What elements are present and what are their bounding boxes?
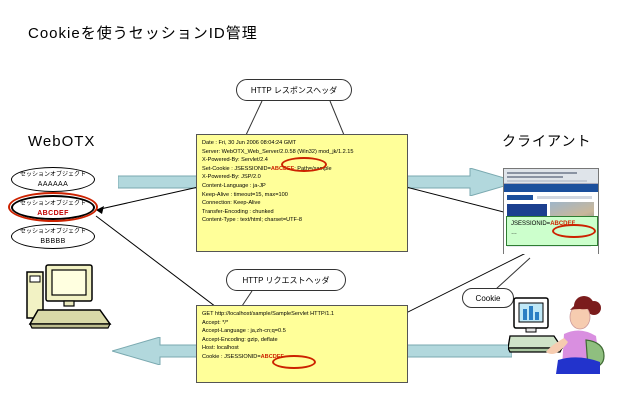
response-header-line: Transfer-Encoding : chunked — [202, 208, 402, 217]
client-label: クライアント — [502, 131, 591, 151]
response-header-line: Date : Fri, 30 Jun 2006 08:04:24 GMT — [202, 139, 402, 148]
client-cookie-highlight-ring — [552, 224, 596, 238]
response-header-line: Content-Language : ja-JP — [202, 182, 402, 191]
callout-cookie: Cookie — [462, 288, 514, 308]
request-header-line: Host: localhost — [202, 344, 402, 353]
server-label: WebOTX — [28, 133, 95, 150]
callout-response-header: HTTP レスポンスヘッダ — [236, 79, 352, 101]
session-object-3: セッションオブジェクト BBBBB — [11, 224, 95, 249]
request-header-line: GET http://localhost/sample/SampleServle… — [202, 310, 402, 319]
http-request-header-box: GET http://localhost/sample/SampleServle… — [196, 305, 408, 383]
response-header-line: Content-Type : text/html; charset=UTF-8 — [202, 216, 402, 225]
cookie-highlight-ring — [272, 355, 316, 369]
response-header-line: Server: WebOTX_Web_Server/2.0.58 (Win32)… — [202, 148, 402, 157]
request-header-line: Accept-Encoding: gzip, deflate — [202, 336, 402, 345]
callout-request-header: HTTP リクエストヘッダ — [226, 269, 346, 291]
response-header-line: Keep-Alive : timeout=15, max=100 — [202, 191, 402, 200]
http-response-header-box: Date : Fri, 30 Jun 2006 08:04:24 GMT Ser… — [196, 134, 408, 252]
person-at-computer-icon — [508, 290, 612, 382]
session-object-highlight-ring — [8, 192, 98, 222]
cookie-store-name: JSESSIONID= — [511, 221, 550, 227]
browser-navbar — [504, 184, 598, 192]
session-object-caption: セッションオブジェクト — [12, 228, 94, 237]
cookie-prefix: Cookie : JSESSIONID= — [202, 354, 261, 360]
diagram-canvas: Cookieを使うセッションID管理 WebOTX — [0, 0, 640, 420]
session-object-value: AAAAAA — [12, 180, 94, 189]
request-header-line: Accept-Language : ja,zh-cn;q=0.5 — [202, 327, 402, 336]
session-object-1: セッションオブジェクト AAAAAA — [11, 167, 95, 192]
session-object-caption: セッションオブジェクト — [12, 171, 94, 180]
set-cookie-highlight-ring — [281, 157, 327, 172]
response-header-line: X-Powered-By: JSP/2.0 — [202, 173, 402, 182]
response-header-line: Connection: Keep-Alive — [202, 199, 402, 208]
desktop-computer-icon — [24, 262, 116, 336]
page-title: Cookieを使うセッションID管理 — [28, 22, 258, 43]
session-object-value: BBBBB — [12, 237, 94, 246]
set-cookie-prefix: Set-Cookie : JSESSIONID= — [202, 166, 271, 172]
browser-titlebar — [504, 169, 598, 184]
request-header-line: Accept: */* — [202, 319, 402, 328]
